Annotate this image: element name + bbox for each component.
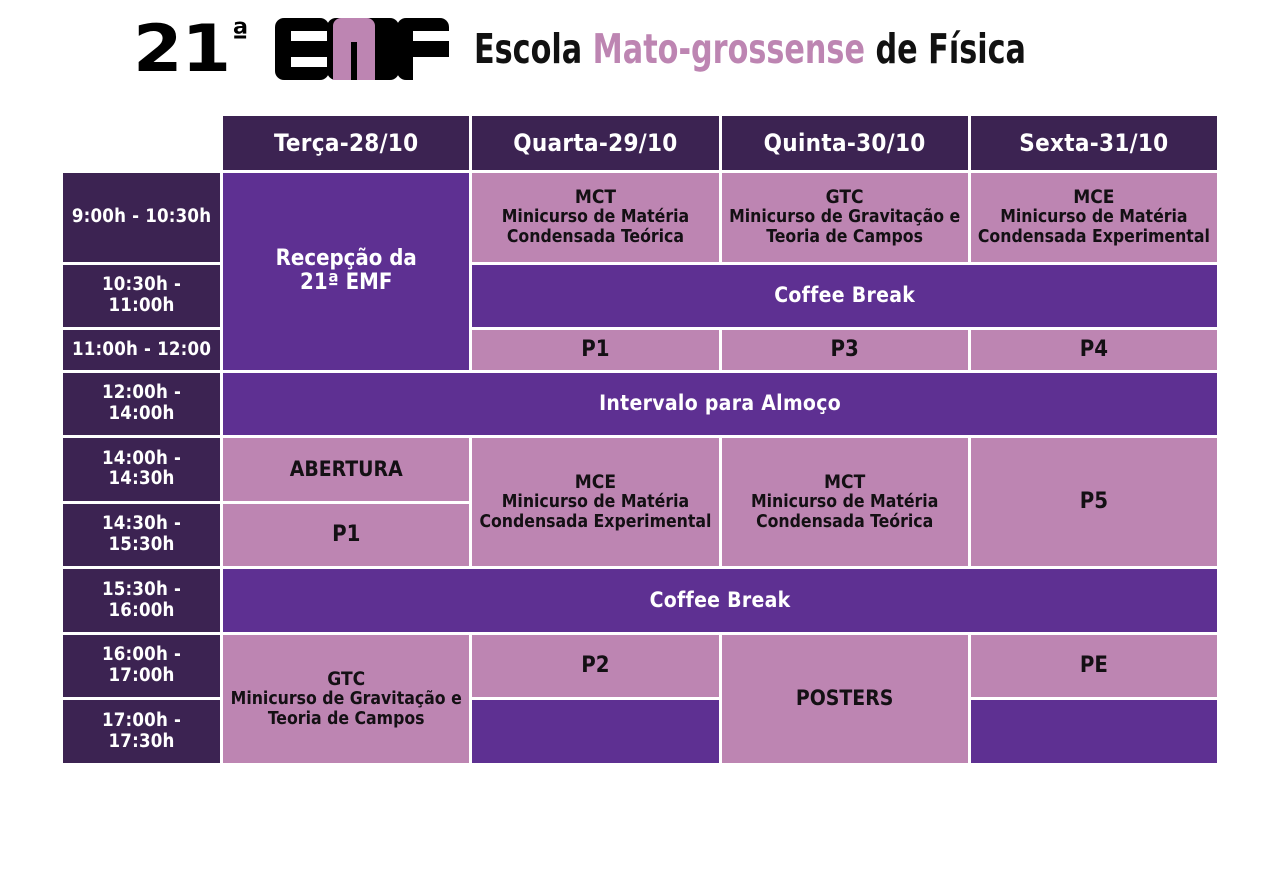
time-slot-1600: 16:00h - 17:00h — [63, 635, 220, 698]
event-mce-morning[interactable]: MCE Minicurso de Matéria Condensada Expe… — [971, 173, 1217, 262]
recepcao-line-1: Recepção da — [227, 247, 465, 272]
event-p1-quarta[interactable]: P1 — [472, 330, 718, 369]
event-p3-quinta[interactable]: P3 — [722, 330, 968, 369]
empty-cell-sexta-1700 — [971, 700, 1217, 763]
edition-number: 21 — [133, 16, 230, 81]
schedule-grid: Terça-28/10 Quarta-29/10 Quinta-30/10 Se… — [60, 113, 1220, 766]
emf-logo-graphic — [275, 18, 460, 80]
title-mato-grossense: Mato-grossense — [592, 25, 864, 73]
day-header-quarta[interactable]: Quarta-29/10 — [472, 116, 718, 170]
event-coffee-break-afternoon[interactable]: Coffee Break — [223, 569, 1217, 632]
table-row: 14:00h - 14:30h ABERTURA MCE Minicurso d… — [63, 438, 1217, 501]
table-row: 16:00h - 17:00h GTC Minicurso de Gravita… — [63, 635, 1217, 698]
title-subtitle: Escola Mato-grossense de Física — [474, 29, 1026, 70]
mct-desc-afternoon-2: Condensada Teórica — [726, 513, 964, 533]
time-slot-1200: 12:00h - 14:00h — [63, 373, 220, 436]
schedule-table: Terça-28/10 Quarta-29/10 Quinta-30/10 Se… — [60, 113, 1220, 766]
time-slot-1400: 14:00h - 14:30h — [63, 438, 220, 501]
mct-desc-2: Condensada Teórica — [476, 228, 714, 248]
emf-logo — [275, 18, 460, 80]
gtc-code-afternoon: GTC — [227, 669, 465, 690]
time-slot-1030: 10:30h - 11:00h — [63, 265, 220, 328]
day-header-terca[interactable]: Terça-28/10 — [223, 116, 469, 170]
mce-desc-2: Condensada Experimental — [975, 228, 1213, 248]
event-posters[interactable]: POSTERS — [722, 635, 968, 763]
event-p4-sexta[interactable]: P4 — [971, 330, 1217, 369]
event-recepcao[interactable]: Recepção da 21ª EMF — [223, 173, 469, 370]
sponsor-logos: FÍSICA Programa de Pós-graduação em Físi… — [0, 778, 1280, 873]
recepcao-line-2: 21ª EMF — [227, 271, 465, 296]
event-coffee-break-morning[interactable]: Coffee Break — [472, 265, 1217, 328]
gtc-code: GTC — [726, 187, 964, 208]
event-pe-sexta[interactable]: PE — [971, 635, 1217, 698]
gtc-desc-afternoon-2: Teoria de Campos — [227, 710, 465, 730]
event-p2-quarta[interactable]: P2 — [472, 635, 718, 698]
day-header-sexta[interactable]: Sexta-31/10 — [971, 116, 1217, 170]
time-slot-1530: 15:30h - 16:00h — [63, 569, 220, 632]
empty-cell-quarta-1700 — [472, 700, 718, 763]
event-mct-morning[interactable]: MCT Minicurso de Matéria Condensada Teór… — [472, 173, 718, 262]
event-mce-afternoon[interactable]: MCE Minicurso de Matéria Condensada Expe… — [472, 438, 718, 566]
event-lunch-break[interactable]: Intervalo para Almoço — [223, 373, 1217, 436]
table-row: 12:00h - 14:00h Intervalo para Almoço — [63, 373, 1217, 436]
time-slot-1430: 14:30h - 15:30h — [63, 504, 220, 567]
title-de-fisica: de Física — [865, 25, 1026, 73]
schedule-poster: 21 ª Escola Mato-grossense de Física — [0, 0, 1280, 873]
mce-desc-afternoon-2: Condensada Experimental — [476, 513, 714, 533]
event-mct-afternoon[interactable]: MCT Minicurso de Matéria Condensada Teór… — [722, 438, 968, 566]
time-slot-1700: 17:00h - 17:30h — [63, 700, 220, 763]
table-header-row: Terça-28/10 Quarta-29/10 Quinta-30/10 Se… — [63, 116, 1217, 170]
event-p1-terca[interactable]: P1 — [223, 504, 469, 567]
edition-ordinal: ª — [232, 20, 249, 50]
gtc-desc-2: Teoria de Campos — [726, 228, 964, 248]
mce-desc-1: Minicurso de Matéria — [975, 208, 1213, 228]
event-p5-sexta[interactable]: P5 — [971, 438, 1217, 566]
day-header-quinta[interactable]: Quinta-30/10 — [722, 116, 968, 170]
mct-code-afternoon: MCT — [726, 472, 964, 493]
event-gtc-afternoon[interactable]: GTC Minicurso de Gravitação e Teoria de … — [223, 635, 469, 763]
mct-desc-afternoon-1: Minicurso de Matéria — [726, 493, 964, 513]
time-slot-1100: 11:00h - 12:00 — [63, 330, 220, 369]
mct-desc-1: Minicurso de Matéria — [476, 208, 714, 228]
mce-code: MCE — [975, 187, 1213, 208]
table-row: 15:30h - 16:00h Coffee Break — [63, 569, 1217, 632]
mce-desc-afternoon-1: Minicurso de Matéria — [476, 493, 714, 513]
title-escola: Escola — [474, 25, 593, 73]
gtc-desc-afternoon-1: Minicurso de Gravitação e — [227, 690, 465, 710]
corner-cell — [63, 116, 220, 170]
mce-code-afternoon: MCE — [476, 472, 714, 493]
event-abertura[interactable]: ABERTURA — [223, 438, 469, 501]
time-slot-0900: 9:00h - 10:30h — [63, 173, 220, 262]
event-gtc-morning[interactable]: GTC Minicurso de Gravitação e Teoria de … — [722, 173, 968, 262]
table-row: 9:00h - 10:30h Recepção da 21ª EMF MCT M… — [63, 173, 1217, 262]
mct-code: MCT — [476, 187, 714, 208]
gtc-desc-1: Minicurso de Gravitação e — [726, 208, 964, 228]
poster-title: 21 ª Escola Mato-grossense de Física — [0, 18, 1280, 80]
